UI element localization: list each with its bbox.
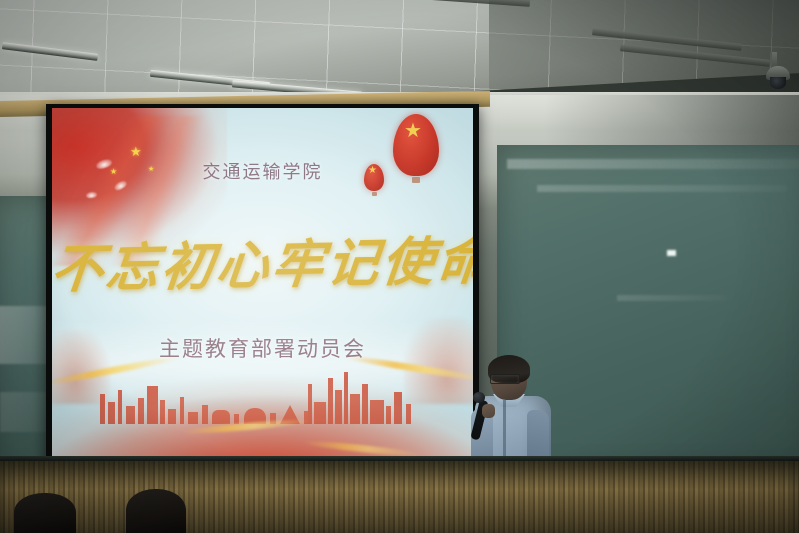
lecture-hall-photo: ★ ★ ★ ★ ★ <box>0 0 799 533</box>
projection-screen-frame: ★ ★ ★ ★ ★ <box>46 104 479 475</box>
wainscot-shadow <box>0 461 799 533</box>
presenter-hand <box>482 404 495 418</box>
projection-screen: ★ ★ ★ ★ ★ <box>52 108 473 470</box>
slide-headline-text: 不忘初心牢记使命 <box>52 219 473 303</box>
audience-member-head <box>126 489 186 533</box>
audience-member-head <box>14 493 76 533</box>
presentation-slide: ★ ★ ★ ★ ★ <box>52 108 473 470</box>
slide-subtitle-text: 主题教育部署动员会 <box>52 333 473 363</box>
eyeglasses-icon <box>490 374 520 384</box>
slide-organization-text: 交通运输学院 <box>52 158 473 184</box>
camera-lens-icon <box>770 77 786 89</box>
microphone-head-icon <box>473 392 485 403</box>
